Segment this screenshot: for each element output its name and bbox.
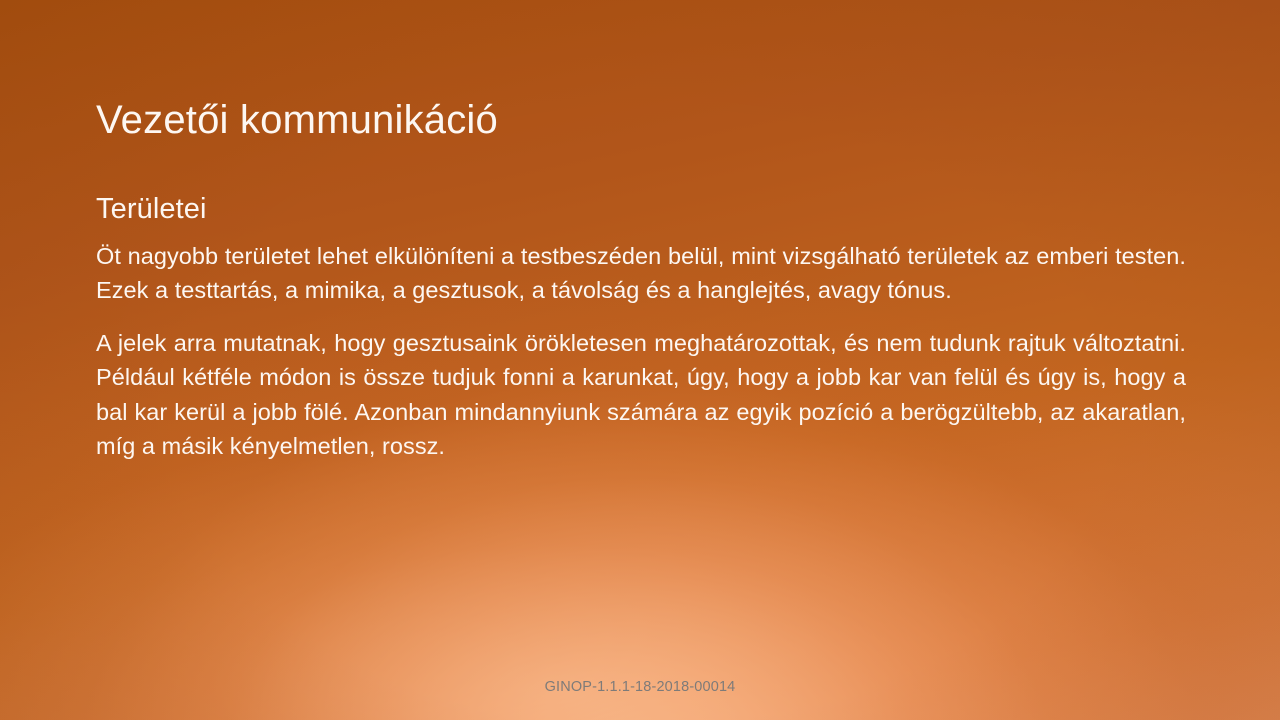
section-heading: Területei xyxy=(96,192,1186,227)
body-paragraph-2: A jelek arra mutatnak, hogy gesztusaink … xyxy=(96,326,1186,464)
slide-title: Vezetői kommunikáció xyxy=(96,97,1186,143)
slide-footer-project-code: GINOP-1.1.1-18-2018-00014 xyxy=(0,679,1280,695)
slide-body: Területei Öt nagyobb területet lehet elk… xyxy=(96,192,1186,464)
body-paragraph-1: Öt nagyobb területet lehet elkülöníteni … xyxy=(96,239,1186,308)
slide-content: Vezetői kommunikáció Területei Öt nagyob… xyxy=(0,0,1280,720)
presentation-slide: Vezetői kommunikáció Területei Öt nagyob… xyxy=(0,0,1280,720)
